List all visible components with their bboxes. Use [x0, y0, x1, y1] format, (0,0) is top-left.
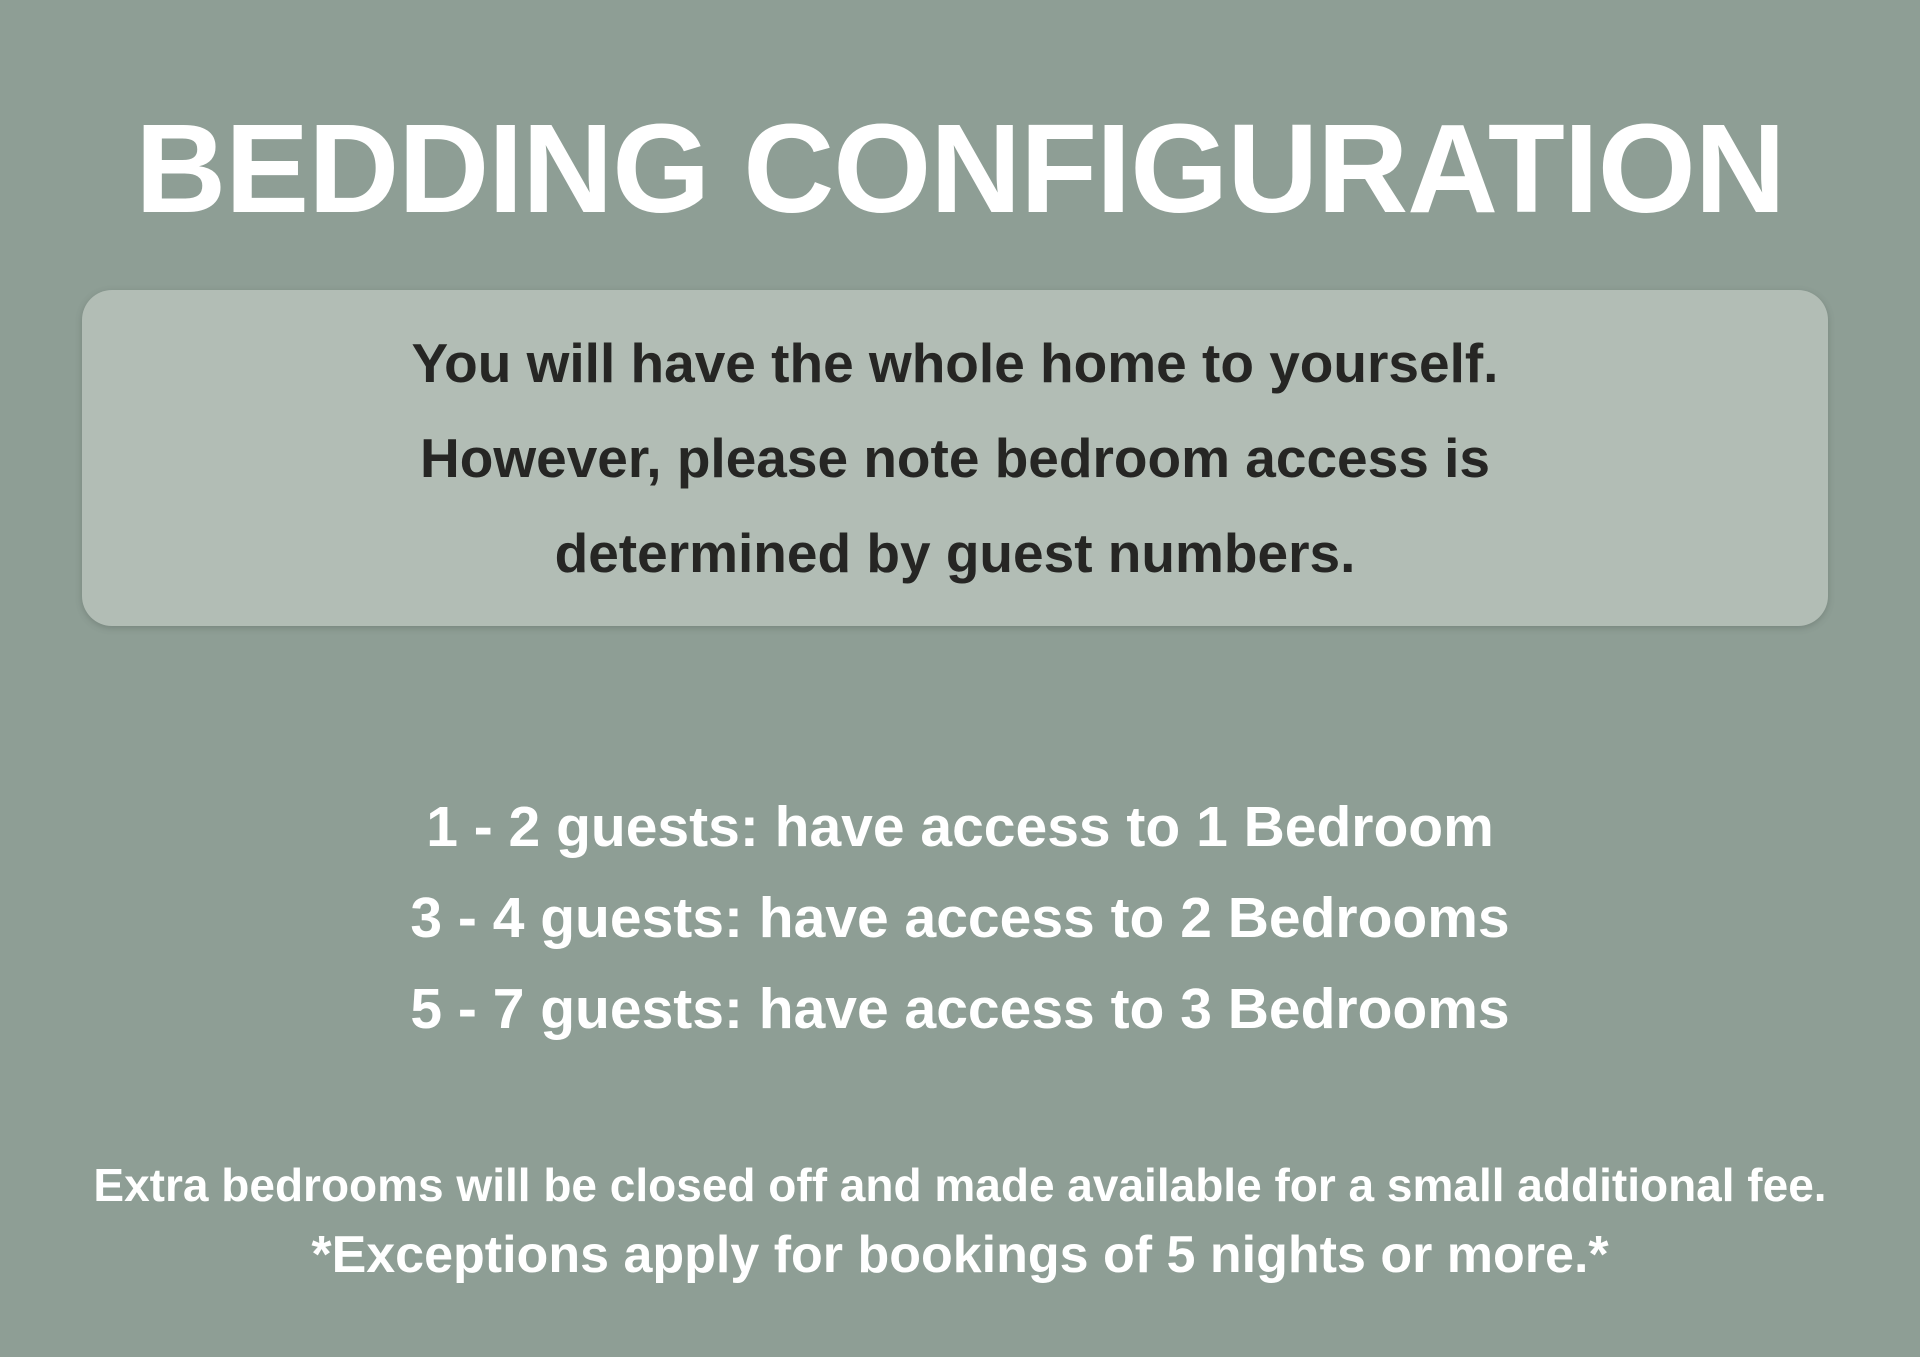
footnote-extra-bedrooms: Extra bedrooms will be closed off and ma… — [0, 1152, 1920, 1218]
notice-line-1: You will have the whole home to yourself… — [412, 316, 1499, 411]
page-title: BEDDING CONFIGURATION — [0, 106, 1920, 232]
footnote-exceptions: *Exceptions apply for bookings of 5 nigh… — [0, 1218, 1920, 1292]
footnotes: Extra bedrooms will be closed off and ma… — [0, 1152, 1920, 1292]
rule-line-5-7-guests: 5 - 7 guests: have access to 3 Bedrooms — [0, 964, 1920, 1055]
notice-line-2: However, please note bedroom access is — [420, 411, 1490, 506]
notice-line-3: determined by guest numbers. — [555, 506, 1356, 601]
rule-line-3-4-guests: 3 - 4 guests: have access to 2 Bedrooms — [0, 873, 1920, 964]
rule-line-1-2-guests: 1 - 2 guests: have access to 1 Bedroom — [0, 782, 1920, 873]
guest-access-rules: 1 - 2 guests: have access to 1 Bedroom 3… — [0, 782, 1920, 1055]
bedding-configuration-poster: BEDDING CONFIGURATION You will have the … — [0, 0, 1920, 1357]
notice-card: You will have the whole home to yourself… — [82, 290, 1828, 626]
